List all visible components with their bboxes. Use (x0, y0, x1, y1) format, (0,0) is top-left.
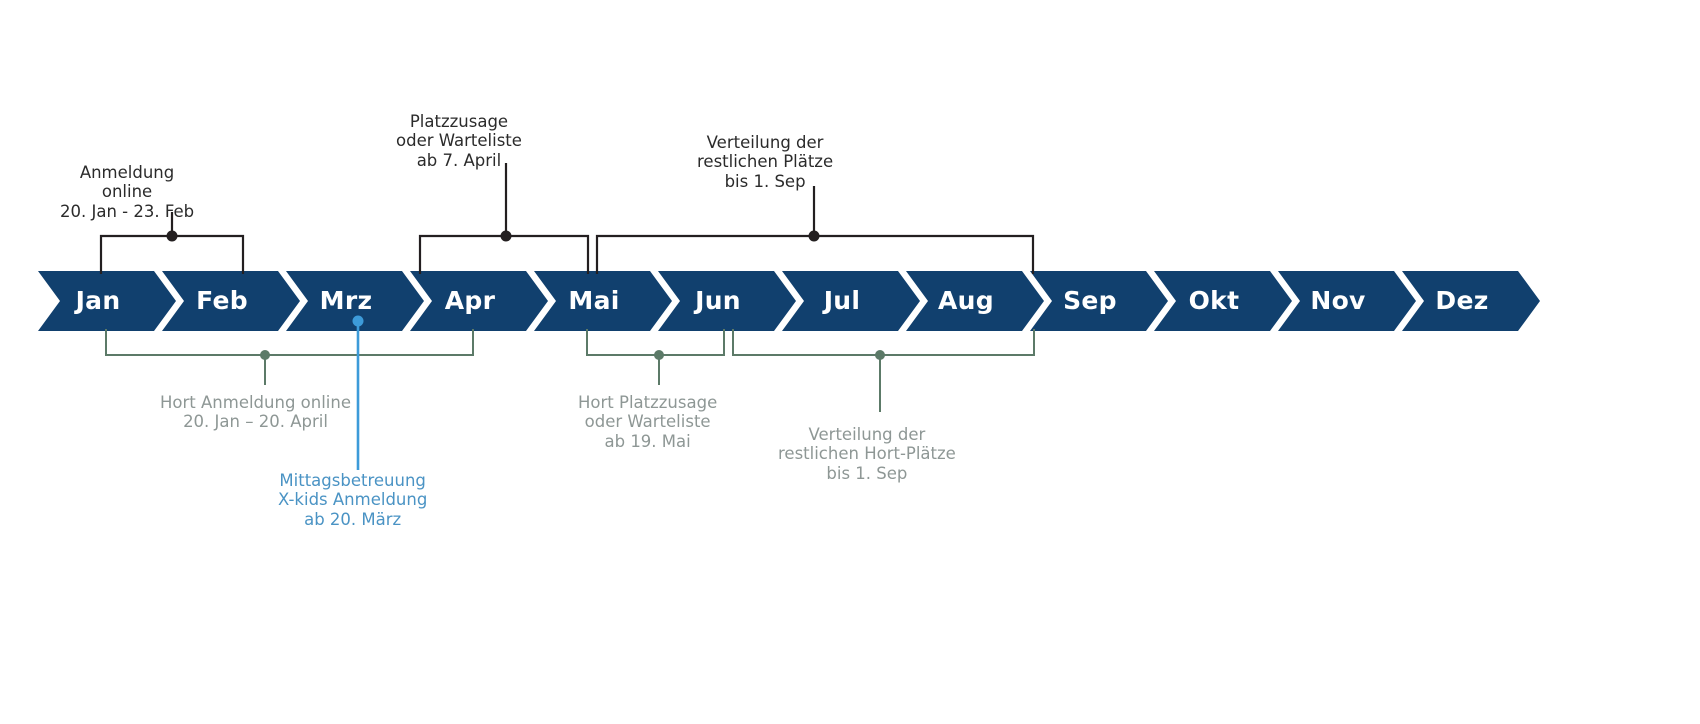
annotation-line: Platzzusage (396, 112, 522, 131)
annotation-line: bis 1. Sep (778, 464, 956, 483)
annotation-platzzusage-warteliste: Platzzusageoder Wartelisteab 7. April (396, 112, 522, 170)
annotation-line: oder Warteliste (396, 131, 522, 150)
annotation-verteilung-restliche-plaetze: Verteilung derrestlichen Plätzebis 1. Se… (697, 133, 833, 191)
annotation-verteilung-restliche-hort-plaetze: Verteilung derrestlichen Hort-Plätzebis … (778, 425, 956, 483)
annotation-line: restlichen Plätze (697, 152, 833, 171)
annotation-line: Verteilung der (778, 425, 956, 444)
month-label-okt: Okt (1189, 286, 1240, 315)
annotation-line: Mittagsbetreuung (278, 471, 427, 490)
timeline-canvas: JanFebMrzAprMaiJunJulAugSepOktNovDez (0, 0, 1700, 724)
bottom-bracket-hort-platzzusage-warteliste (587, 329, 724, 355)
annotation-hort-anmeldung-online: Hort Anmeldung online20. Jan – 20. April (160, 393, 351, 432)
annotation-line: ab 7. April (396, 151, 522, 170)
month-label-jan: Jan (74, 286, 121, 315)
bottom-bracket-verteilung-restliche-hort-plaetze (733, 329, 1034, 355)
annotation-line: ab 19. Mai (578, 432, 717, 451)
top-marker-dot-platzzusage-warteliste[interactable] (501, 231, 512, 242)
annotation-line: Anmeldung (60, 163, 194, 182)
annotation-anmeldung-online: Anmeldungonline20. Jan - 23. Feb (60, 163, 194, 221)
top-bracket-verteilung-restliche-plaetze (597, 236, 1033, 274)
annotation-line: ab 20. März (278, 510, 427, 529)
bottom-marker-dot-verteilung-restliche-hort-plaetze[interactable] (875, 350, 885, 360)
top-marker-dot-verteilung-restliche-plaetze[interactable] (809, 231, 820, 242)
month-label-apr: Apr (445, 286, 496, 315)
annotation-line: Verteilung der (697, 133, 833, 152)
month-label-jun: Jun (693, 286, 741, 315)
bottom-bracket-hort-anmeldung-online (106, 329, 473, 355)
top-bracket-group (101, 163, 1033, 274)
month-label-mrz: Mrz (320, 286, 373, 315)
month-label-jul: Jul (822, 286, 861, 315)
month-label-feb: Feb (196, 286, 248, 315)
month-label-nov: Nov (1310, 286, 1365, 315)
bottom-marker-dot-hort-anmeldung-online[interactable] (260, 350, 270, 360)
annotation-line: oder Warteliste (578, 412, 717, 431)
month-chevron-group: JanFebMrzAprMaiJunJulAugSepOktNovDez (38, 271, 1540, 331)
annotation-line: Hort Platzzusage (578, 393, 717, 412)
annotation-line: X-kids Anmeldung (278, 490, 427, 509)
annotation-line: restlichen Hort-Plätze (778, 444, 956, 463)
month-label-dez: Dez (1435, 286, 1488, 315)
top-bracket-platzzusage-warteliste (420, 236, 588, 274)
top-bracket-anmeldung-online (101, 236, 243, 274)
annotation-line: 20. Jan – 20. April (160, 412, 351, 431)
blue-marker-group (353, 316, 364, 471)
month-label-sep: Sep (1063, 286, 1117, 315)
blue-marker-dot-mittagsbetreuung-x-kids[interactable] (353, 316, 364, 327)
annotation-hort-platzzusage-warteliste: Hort Platzzusageoder Wartelisteab 19. Ma… (578, 393, 717, 451)
annotation-mittagsbetreuung-x-kids: MittagsbetreuungX-kids Anmeldungab 20. M… (278, 471, 427, 529)
bottom-marker-dot-hort-platzzusage-warteliste[interactable] (654, 350, 664, 360)
top-marker-dot-anmeldung-online[interactable] (167, 231, 178, 242)
timeline-diagram: JanFebMrzAprMaiJunJulAugSepOktNovDez Anm… (0, 0, 1700, 724)
month-label-mai: Mai (568, 286, 619, 315)
annotation-line: online (60, 182, 194, 201)
annotation-line: 20. Jan - 23. Feb (60, 202, 194, 221)
annotation-line: bis 1. Sep (697, 172, 833, 191)
annotation-line: Hort Anmeldung online (160, 393, 351, 412)
month-label-aug: Aug (938, 286, 994, 315)
